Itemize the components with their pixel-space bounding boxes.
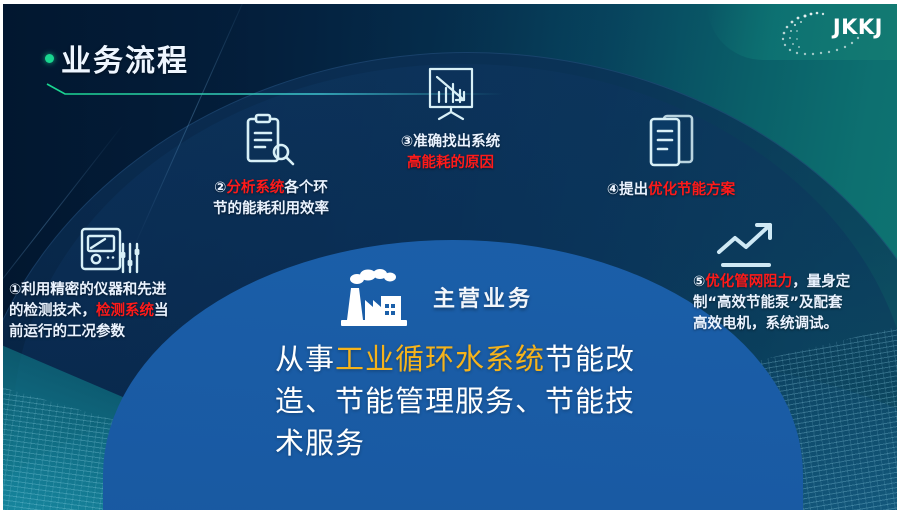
flow-item-5-index: ⑤ <box>693 274 705 290</box>
main-business-line1-post: 节能改 <box>545 342 635 376</box>
stacked-documents-icon <box>644 112 698 170</box>
slide-canvas: JKKJ 业务流程 <box>3 4 897 510</box>
flow-item-2[interactable]: ②分析系统各个环节的能耗利用效率 <box>181 112 361 220</box>
flow-item-3-highlight: 高能耗的原因 <box>407 155 494 171</box>
flow-item-4-line1: ④提出 <box>607 182 648 198</box>
flow-item-3-line1: ③准确找出系统 <box>401 134 500 150</box>
flow-item-1[interactable]: ①利用精密的仪器和先进的检测技术，检测系统当前运行的工况参数 <box>9 226 224 343</box>
flow-item-1-line2-tail: 当 <box>154 303 169 319</box>
flow-item-3[interactable]: ③准确找出系统高能耗的原因 <box>353 66 548 174</box>
main-business-text: 从事工业循环水系统节能改造、节能管理服务、节能技术服务 <box>275 338 685 464</box>
clipboard-search-icon <box>243 112 299 170</box>
declining-bar-chart-board-icon <box>423 66 479 122</box>
flow-item-5-line3: 高效电机，系统调试。 <box>693 316 838 332</box>
flow-item-5-line1-tail: ，量身定 <box>792 274 850 290</box>
flow-item-2-text: ②分析系统各个环节的能耗利用效率 <box>181 178 361 220</box>
main-business-label: 主营业务 <box>433 281 533 313</box>
flow-item-4[interactable]: ④提出优化节能方案 <box>581 112 761 201</box>
flow-item-4-text: ④提出优化节能方案 <box>581 180 761 201</box>
logo-wordmark: JKKJ <box>833 15 883 39</box>
flow-item-5-line2: 制“高效节能泵”及配套 <box>693 295 843 311</box>
flow-item-1-line3: 前运行的工况参数 <box>9 324 125 340</box>
flow-item-4-highlight: 优化节能方案 <box>648 182 735 198</box>
flow-item-2-line1-tail: 各个环 <box>284 180 328 196</box>
title-label: 业务流程 <box>61 36 189 80</box>
flow-item-1-highlight: 检测系统 <box>96 303 154 319</box>
flow-item-5-text: ⑤优化管网阻力，量身定制“高效节能泵”及配套高效电机，系统调试。 <box>693 272 897 335</box>
main-business-line1-pre: 从事 <box>275 342 335 376</box>
main-business-heading: 主营业务 <box>333 266 533 328</box>
flow-item-2-index: ② <box>214 180 226 196</box>
main-business-highlight: 工业循环水系统 <box>335 342 545 376</box>
flow-item-2-highlight: 分析系统 <box>226 180 284 196</box>
flow-item-5[interactable]: ⑤优化管网阻力，量身定制“高效节能泵”及配套高效电机，系统调试。 <box>693 222 897 335</box>
rising-trend-arrow-icon <box>715 222 785 272</box>
title-bullet-dot <box>45 54 54 63</box>
presentation-slide: JKKJ 业务流程 <box>0 0 905 513</box>
main-business-line2: 造、节能管理服务、节能技 <box>275 384 635 418</box>
main-business-line3: 术服务 <box>275 426 365 460</box>
flow-item-1-text: ①利用精密的仪器和先进的检测技术，检测系统当前运行的工况参数 <box>9 280 224 343</box>
flow-item-2-line2: 节的能耗利用效率 <box>213 201 329 217</box>
flow-item-1-line2-plain: 的检测技术， <box>9 303 96 319</box>
flow-item-3-text: ③准确找出系统高能耗的原因 <box>353 132 548 174</box>
flow-item-5-highlight: 优化管网阻力 <box>705 274 792 290</box>
measuring-meter-icon <box>79 226 139 280</box>
flow-item-1-line1: ①利用精密的仪器和先进 <box>9 282 166 298</box>
factory-icon <box>333 266 417 328</box>
